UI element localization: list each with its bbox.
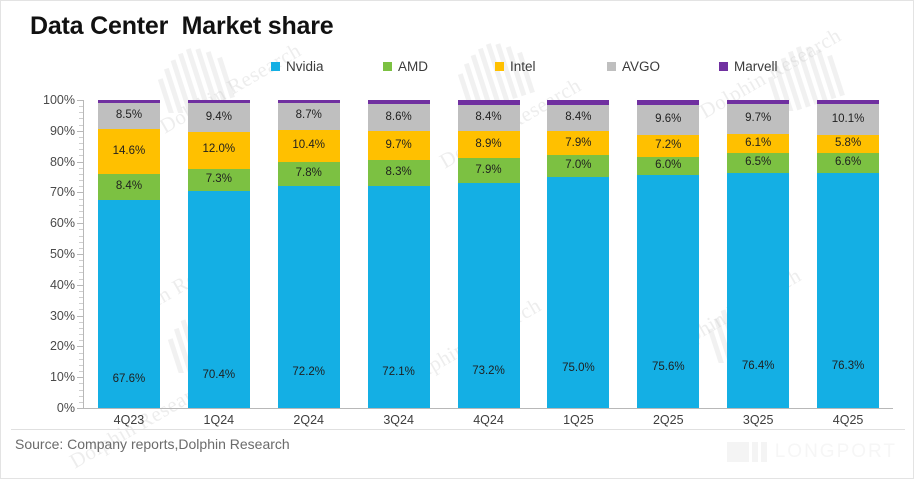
bar-segment-avgo[interactable]: 9.4%	[188, 103, 250, 132]
y-axis: 100%90%80%70%60%50%40%30%20%10%0%	[29, 93, 75, 415]
bar-value-label: 8.4%	[565, 112, 591, 124]
y-minor-tick	[79, 205, 83, 206]
bar-segment-avgo[interactable]: 9.6%	[637, 105, 699, 135]
bar-value-label: 72.2%	[292, 367, 325, 379]
y-tick-label: 80%	[50, 155, 75, 169]
bar-value-label: 8.7%	[296, 110, 322, 122]
bar-segment-intel[interactable]: 12.0%	[188, 132, 250, 169]
bar-value-label: 7.9%	[475, 165, 501, 177]
bar-segment-intel[interactable]: 10.4%	[278, 130, 340, 162]
y-minor-tick	[79, 328, 83, 329]
y-minor-tick	[79, 143, 83, 144]
y-tick-label: 0%	[57, 401, 75, 415]
stacked-bar-1q25[interactable]: 75.0%7.0%7.9%8.4%	[547, 100, 609, 408]
legend-item-avgo[interactable]: AVGO	[607, 59, 719, 74]
y-minor-tick	[79, 340, 83, 341]
bar-segment-nvidia[interactable]: 72.1%	[368, 186, 430, 408]
y-minor-tick	[79, 359, 83, 360]
bar-segment-intel[interactable]: 9.7%	[368, 131, 430, 161]
stacked-bar-4q23[interactable]: 67.6%8.4%14.6%8.5%	[98, 100, 160, 408]
y-minor-tick	[79, 149, 83, 150]
y-tick-label: 50%	[50, 247, 75, 261]
bar-value-label: 75.0%	[562, 363, 595, 375]
x-tick-label: 4Q23	[84, 413, 174, 435]
bar-value-label: 8.5%	[116, 110, 142, 122]
footer-divider	[11, 429, 905, 430]
stacked-bar-4q24[interactable]: 73.2%7.9%8.9%8.4%	[458, 100, 520, 408]
bar-segment-avgo[interactable]: 8.5%	[98, 103, 160, 129]
bar-value-label: 5.8%	[835, 138, 861, 150]
y-minor-tick	[79, 383, 83, 384]
legend-swatch-icon	[271, 62, 280, 71]
y-tick-mark	[77, 408, 83, 409]
chart-canvas: Dolphin Research Dolphin Research Dolphi…	[0, 0, 914, 479]
bars-container: 67.6%8.4%14.6%8.5%70.4%7.3%12.0%9.4%72.2…	[84, 100, 893, 408]
x-tick-label: 2Q25	[623, 413, 713, 435]
y-minor-tick	[79, 365, 83, 366]
bar-segment-amd[interactable]: 6.6%	[817, 153, 879, 173]
y-minor-tick	[79, 371, 83, 372]
y-tick-mark	[77, 254, 83, 255]
y-minor-tick	[79, 174, 83, 175]
y-tick-label: 10%	[50, 370, 75, 384]
y-tick-mark	[77, 131, 83, 132]
bar-slot: 73.2%7.9%8.9%8.4%	[444, 100, 534, 408]
bar-segment-nvidia[interactable]: 76.3%	[817, 173, 879, 408]
x-tick-label: 1Q25	[533, 413, 623, 435]
bar-value-label: 7.0%	[565, 160, 591, 172]
y-minor-tick	[79, 106, 83, 107]
legend-swatch-icon	[383, 62, 392, 71]
y-minor-tick	[79, 229, 83, 230]
y-tick-label: 90%	[50, 124, 75, 138]
bar-slot: 76.4%6.5%6.1%9.7%	[713, 100, 803, 408]
legend-swatch-icon	[495, 62, 504, 71]
bar-segment-amd[interactable]: 8.4%	[98, 174, 160, 200]
y-minor-tick	[79, 322, 83, 323]
legend-label: AVGO	[622, 59, 660, 74]
longport-logo-icon	[727, 442, 767, 462]
bar-slot: 75.6%6.0%7.2%9.6%	[623, 100, 713, 408]
y-tick-label: 70%	[50, 185, 75, 199]
bar-segment-intel[interactable]: 7.2%	[637, 135, 699, 157]
y-tick-label: 20%	[50, 339, 75, 353]
x-tick-label: 3Q24	[354, 413, 444, 435]
bar-slot: 72.1%8.3%9.7%8.6%	[354, 100, 444, 408]
y-minor-tick	[79, 291, 83, 292]
bar-segment-amd[interactable]: 6.0%	[637, 157, 699, 175]
legend-item-intel[interactable]: Intel	[495, 59, 607, 74]
stacked-bar-1q24[interactable]: 70.4%7.3%12.0%9.4%	[188, 100, 250, 408]
bar-value-label: 6.5%	[745, 157, 771, 169]
y-minor-tick	[79, 279, 83, 280]
y-tick-mark	[77, 223, 83, 224]
bar-segment-amd[interactable]: 7.3%	[188, 169, 250, 191]
y-minor-tick	[79, 272, 83, 273]
x-tick-label: 4Q24	[444, 413, 534, 435]
stacked-bar-3q25[interactable]: 76.4%6.5%6.1%9.7%	[727, 100, 789, 408]
bar-value-label: 8.4%	[475, 112, 501, 124]
bar-segment-avgo[interactable]: 10.1%	[817, 104, 879, 135]
y-minor-tick	[79, 402, 83, 403]
bar-value-label: 14.6%	[113, 146, 146, 158]
legend-item-marvell[interactable]: Marvell	[719, 59, 831, 74]
y-minor-tick	[79, 242, 83, 243]
legend-label: Nvidia	[286, 59, 324, 74]
bar-value-label: 6.1%	[745, 138, 771, 150]
y-minor-tick	[79, 297, 83, 298]
bar-segment-avgo[interactable]: 8.4%	[458, 105, 520, 131]
bar-segment-avgo[interactable]: 9.7%	[727, 104, 789, 134]
legend-item-amd[interactable]: AMD	[383, 59, 495, 74]
x-axis-line	[83, 408, 893, 409]
bar-value-label: 9.7%	[386, 140, 412, 152]
bar-segment-avgo[interactable]: 8.7%	[278, 103, 340, 130]
bar-value-label: 76.3%	[832, 361, 865, 373]
bar-value-label: 7.3%	[206, 174, 232, 186]
y-tick-label: 40%	[50, 278, 75, 292]
bar-segment-amd[interactable]: 6.5%	[727, 153, 789, 173]
y-minor-tick	[79, 396, 83, 397]
bar-value-label: 75.6%	[652, 362, 685, 374]
bar-value-label: 76.4%	[742, 361, 775, 373]
bar-segment-amd[interactable]: 8.3%	[368, 160, 430, 186]
bar-segment-nvidia[interactable]: 72.2%	[278, 186, 340, 408]
y-tick-mark	[77, 316, 83, 317]
bar-segment-nvidia[interactable]: 75.0%	[547, 177, 609, 408]
y-minor-tick	[79, 118, 83, 119]
bar-value-label: 10.1%	[832, 114, 865, 126]
bar-segment-intel[interactable]: 7.9%	[547, 131, 609, 155]
y-minor-tick	[79, 186, 83, 187]
bar-value-label: 7.9%	[565, 138, 591, 150]
bar-segment-intel[interactable]: 6.1%	[727, 134, 789, 153]
legend-label: Marvell	[734, 59, 778, 74]
y-minor-tick	[79, 168, 83, 169]
y-minor-tick	[79, 303, 83, 304]
bar-value-label: 9.7%	[745, 113, 771, 125]
stacked-bar-2q24[interactable]: 72.2%7.8%10.4%8.7%	[278, 100, 340, 408]
y-minor-tick	[79, 180, 83, 181]
y-minor-tick	[79, 353, 83, 354]
chart-title: Data Center Market share	[30, 12, 333, 41]
brand-watermark: LONGPORT	[727, 441, 897, 463]
bar-segment-intel[interactable]: 14.6%	[98, 129, 160, 174]
y-tick-label: 30%	[50, 309, 75, 323]
y-minor-tick	[79, 248, 83, 249]
bar-value-label: 8.6%	[386, 112, 412, 124]
bar-segment-amd[interactable]: 7.0%	[547, 155, 609, 177]
y-tick-mark	[77, 162, 83, 163]
brand-name: LONGPORT	[775, 441, 897, 463]
legend-label: AMD	[398, 59, 428, 74]
bar-value-label: 70.4%	[203, 370, 236, 382]
y-minor-tick	[79, 236, 83, 237]
bar-value-label: 73.2%	[472, 366, 505, 378]
legend-swatch-icon	[719, 62, 728, 71]
y-minor-tick	[79, 217, 83, 218]
bar-segment-nvidia[interactable]: 73.2%	[458, 183, 520, 408]
y-minor-tick	[79, 266, 83, 267]
bar-segment-avgo[interactable]: 8.6%	[368, 104, 430, 130]
bar-value-label: 9.4%	[206, 112, 232, 124]
y-minor-tick	[79, 211, 83, 212]
legend-label: Intel	[510, 59, 536, 74]
y-tick-mark	[77, 346, 83, 347]
bar-segment-nvidia[interactable]: 67.6%	[98, 200, 160, 408]
y-tick-label: 60%	[50, 216, 75, 230]
y-tick-mark	[77, 377, 83, 378]
x-tick-label: 2Q24	[264, 413, 354, 435]
bar-value-label: 12.0%	[203, 144, 236, 156]
bar-value-label: 6.6%	[835, 157, 861, 169]
stacked-bar-3q24[interactable]: 72.1%8.3%9.7%8.6%	[368, 100, 430, 408]
bar-value-label: 8.9%	[475, 139, 501, 151]
bar-segment-amd[interactable]: 7.8%	[278, 162, 340, 186]
bar-slot: 75.0%7.0%7.9%8.4%	[533, 100, 623, 408]
x-axis: 4Q231Q242Q243Q244Q241Q252Q253Q254Q25	[84, 413, 893, 435]
bar-value-label: 10.4%	[292, 140, 325, 152]
bar-value-label: 9.6%	[655, 114, 681, 126]
y-minor-tick	[79, 199, 83, 200]
bar-slot: 67.6%8.4%14.6%8.5%	[84, 100, 174, 408]
y-minor-tick	[79, 155, 83, 156]
y-minor-tick	[79, 137, 83, 138]
bar-value-label: 8.3%	[386, 167, 412, 179]
y-minor-tick	[79, 260, 83, 261]
y-minor-tick	[79, 125, 83, 126]
y-tick-mark	[77, 285, 83, 286]
bar-value-label: 7.2%	[655, 140, 681, 152]
bar-value-label: 6.0%	[655, 160, 681, 172]
bar-value-label: 72.1%	[382, 367, 415, 379]
bar-segment-intel[interactable]: 8.9%	[458, 131, 520, 158]
legend-swatch-icon	[607, 62, 616, 71]
bar-segment-nvidia[interactable]: 75.6%	[637, 175, 699, 408]
bar-slot: 72.2%7.8%10.4%8.7%	[264, 100, 354, 408]
x-tick-label: 3Q25	[713, 413, 803, 435]
bar-segment-nvidia[interactable]: 76.4%	[727, 173, 789, 408]
bar-segment-nvidia[interactable]: 70.4%	[188, 191, 250, 408]
y-minor-tick	[79, 309, 83, 310]
bar-segment-intel[interactable]: 5.8%	[817, 135, 879, 153]
y-tick-label: 100%	[43, 93, 75, 107]
bar-value-label: 7.8%	[296, 168, 322, 180]
chart-legend: NvidiaAMDIntelAVGOMarvell	[271, 56, 831, 76]
y-tick-mark	[77, 100, 83, 101]
bar-value-label: 67.6%	[113, 374, 146, 386]
stacked-bar-4q25[interactable]: 76.3%6.6%5.8%10.1%	[817, 100, 879, 408]
source-note: Source: Company reports,Dolphin Research	[15, 436, 290, 452]
bar-slot: 70.4%7.3%12.0%9.4%	[174, 100, 264, 408]
x-tick-label: 1Q24	[174, 413, 264, 435]
legend-item-nvidia[interactable]: Nvidia	[271, 59, 383, 74]
y-minor-tick	[79, 390, 83, 391]
stacked-bar-2q25[interactable]: 75.6%6.0%7.2%9.6%	[637, 100, 699, 408]
bar-slot: 76.3%6.6%5.8%10.1%	[803, 100, 893, 408]
y-minor-tick	[79, 112, 83, 113]
bar-segment-avgo[interactable]: 8.4%	[547, 105, 609, 131]
bar-segment-amd[interactable]: 7.9%	[458, 158, 520, 182]
y-tick-mark	[77, 192, 83, 193]
x-tick-label: 4Q25	[803, 413, 893, 435]
bar-value-label: 8.4%	[116, 181, 142, 193]
y-minor-tick	[79, 334, 83, 335]
